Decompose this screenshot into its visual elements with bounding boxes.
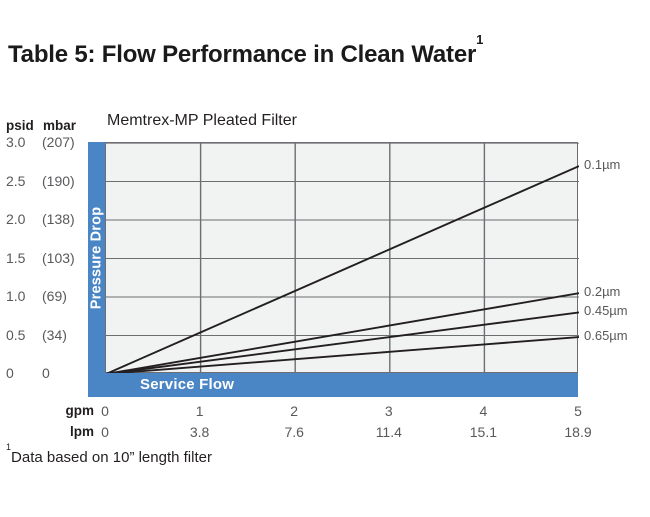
pressure-drop-band-label: Pressure Drop [88,142,105,373]
series-line [106,293,579,374]
horizontal-gridlines [106,143,579,336]
footnote: 1Data based on 10” length filter [6,448,212,466]
series-label-0.2m: 0.2µm [584,284,620,299]
y-axis-tick-psid: 0 [6,365,40,381]
series-lines [106,166,579,374]
plot-svg [106,143,579,374]
pressure-drop-band-text: Pressure Drop [89,206,105,309]
plot-area [105,142,578,373]
y-axis-unit-psid: psid [6,118,34,133]
x-axis-tick-lpm: 3.8 [190,424,209,440]
page-title-text: Table 5: Flow Performance in Clean Water [8,41,476,68]
x-axis-tick-gpm: 5 [574,403,582,419]
x-axis-tick-gpm: 3 [385,403,393,419]
y-axis-tick-mbar: (207) [42,134,88,150]
page-title-footnote-marker: 1 [476,32,483,47]
y-axis-tick-psid: 3.0 [6,134,40,150]
y-axis-tick-mbar: 0 [42,365,88,381]
y-axis-tick-mbar: (138) [42,211,88,227]
y-axis-tick-psid: 1.0 [6,288,40,304]
series-label-0.65m: 0.65µm [584,328,628,343]
x-axis-tick-lpm: 18.9 [564,424,591,440]
x-axis-tick-gpm: 0 [101,403,109,419]
y-axis-tick-psid: 2.5 [6,173,40,189]
x-axis-tick-lpm: 11.4 [376,424,402,440]
y-axis-tick-mbar: (103) [42,250,88,266]
x-axis-tick-lpm: 0 [101,424,109,440]
x-axis-tick-lpm: 7.6 [284,424,303,440]
y-axis-tick-psid: 2.0 [6,211,40,227]
x-axis-tick-gpm: 4 [479,403,487,419]
page-title: Table 5: Flow Performance in Clean Water… [8,41,483,69]
y-axis-tick-psid: 1.5 [6,250,40,266]
x-axis-tick-lpm: 15.1 [470,424,497,440]
x-axis-tick-gpm: 1 [196,403,204,419]
y-axis-tick-psid: 0.5 [6,327,40,343]
x-axis-unit-gpm: gpm [34,403,94,418]
footnote-text: Data based on 10” length filter [11,449,212,466]
service-flow-band-label: Service Flow [140,373,234,397]
y-axis-tick-mbar: (34) [42,327,88,343]
footnote-marker: 1 [6,442,11,452]
x-axis-tick-gpm: 2 [290,403,298,419]
series-label-0.45m: 0.45µm [584,303,628,318]
y-axis-tick-mbar: (190) [42,173,88,189]
y-axis-unit-mbar: mbar [43,118,76,133]
series-label-0.1m: 0.1µm [584,157,620,172]
y-axis-tick-mbar: (69) [42,288,88,304]
chart-header: Memtrex-MP Pleated Filter [107,112,297,130]
x-axis-unit-lpm: lpm [34,424,94,439]
